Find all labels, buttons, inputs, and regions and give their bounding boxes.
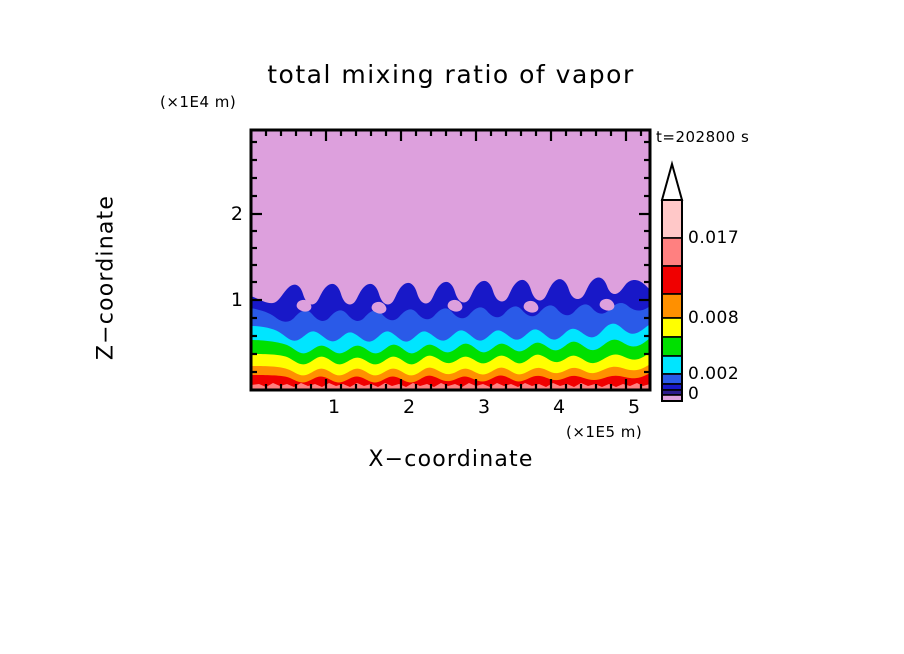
x-tick-label-1: 1 bbox=[328, 396, 340, 418]
cbar-band-4 bbox=[662, 356, 682, 374]
y-axis-title: Z−coordinate bbox=[94, 158, 119, 398]
colorbar-label-0002: 0.002 bbox=[688, 364, 739, 384]
y-tick-label-group: 2 1 bbox=[215, 0, 243, 654]
plot-axes-frame bbox=[243, 122, 663, 402]
y-tick-label-2: 2 bbox=[231, 203, 243, 225]
cbar-band-2 bbox=[662, 384, 682, 390]
cbar-band-6 bbox=[662, 318, 682, 337]
x-tick-label-3: 3 bbox=[478, 396, 490, 418]
x-axis-title: X−coordinate bbox=[251, 447, 651, 472]
cbar-band-10 bbox=[662, 200, 682, 238]
cbar-band-5 bbox=[662, 337, 682, 356]
x-tick-label-4: 4 bbox=[553, 396, 565, 418]
figure-canvas: total mixing ratio of vapor (×1E4 m) t=2… bbox=[0, 0, 904, 654]
colorbar-label-0: 0 bbox=[688, 384, 699, 404]
colorbar-label-0008: 0.008 bbox=[688, 308, 739, 328]
cbar-band-3 bbox=[662, 374, 682, 384]
x-tick-label-5: 5 bbox=[628, 396, 640, 418]
cbar-band-9 bbox=[662, 238, 682, 266]
colorbar-label-0017: 0.017 bbox=[688, 228, 739, 248]
time-annotation: t=202800 s bbox=[656, 128, 749, 146]
page-title: total mixing ratio of vapor bbox=[251, 60, 651, 89]
cbar-band-8 bbox=[662, 266, 682, 294]
y-tick-label-1: 1 bbox=[231, 289, 243, 311]
x-axis-units-label: (×1E5 m) bbox=[566, 423, 642, 441]
cbar-band-7 bbox=[662, 294, 682, 318]
x-tick-label-2: 2 bbox=[403, 396, 415, 418]
